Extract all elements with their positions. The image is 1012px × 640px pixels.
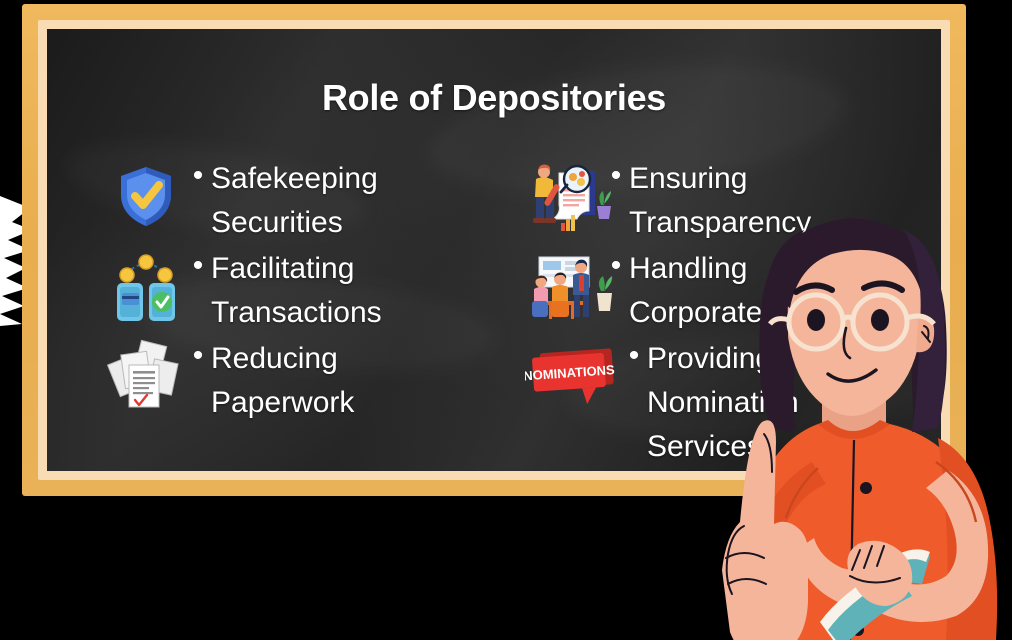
paper-documents-icon	[107, 339, 185, 413]
list-item-label: Safekeeping Securities	[211, 157, 507, 245]
bullet-marker: •	[185, 247, 211, 285]
team-meeting-icon	[525, 249, 603, 323]
document-analysis-icon	[525, 159, 603, 233]
teacher-illustration	[700, 192, 1012, 640]
bullet-marker: •	[621, 337, 647, 375]
bullet-column-left: • Safekeeping Securities	[107, 157, 507, 427]
list-item[interactable]: • Safekeeping Securities	[107, 157, 507, 245]
shield-check-icon	[107, 159, 185, 233]
slide-stage: Role of Depositories	[0, 0, 1012, 640]
bullet-marker: •	[185, 337, 211, 375]
page-title: Role of Depositories	[47, 77, 941, 119]
nominations-badge-icon: NOMINATIONS	[525, 339, 621, 413]
bullet-marker: •	[185, 157, 211, 195]
mobile-transfer-icon	[107, 249, 185, 323]
list-item[interactable]: • Facilitating Transactions	[107, 247, 507, 335]
list-item-label: Facilitating Transactions	[211, 247, 507, 335]
list-item-label: Reducing Paperwork	[211, 337, 507, 425]
list-item[interactable]: • Reducing Paperwork	[107, 337, 507, 425]
